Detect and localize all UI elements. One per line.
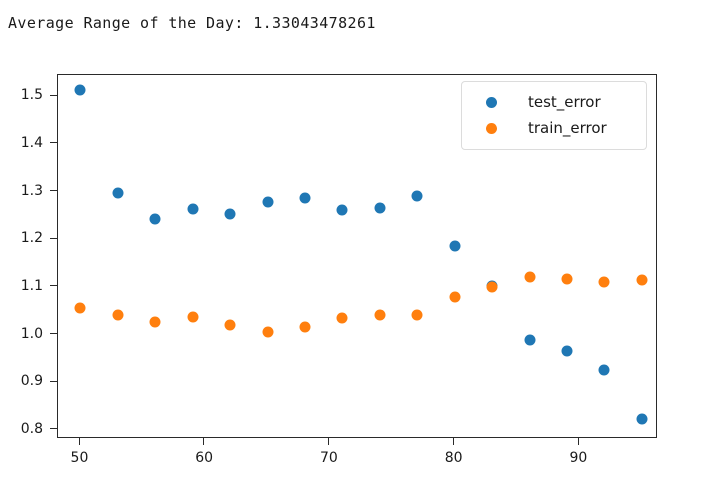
- y-axis-tick-label: 1.4: [21, 135, 43, 151]
- x-axis-tick-label: 60: [195, 450, 213, 466]
- x-axis-tick: [79, 438, 80, 445]
- y-axis-tick-labels: 1.51.41.31.21.11.00.90.8: [0, 0, 51, 496]
- data-point: [112, 188, 123, 199]
- chart-title: Average Range of the Day: 1.33043478261: [8, 14, 376, 32]
- data-point: [599, 365, 610, 376]
- y-axis-tick-label: 1.3: [21, 183, 43, 199]
- x-axis-tick: [453, 438, 454, 445]
- x-axis-tick: [328, 438, 329, 445]
- data-point: [636, 414, 647, 425]
- legend: test_error train_error: [461, 81, 647, 150]
- figure-canvas: Average Range of the Day: 1.33043478261 …: [0, 0, 720, 496]
- data-point: [374, 309, 385, 320]
- data-point: [262, 326, 273, 337]
- data-point: [75, 85, 86, 96]
- y-axis-tick-label: 0.8: [21, 421, 43, 437]
- data-point: [412, 309, 423, 320]
- y-axis-tick: [50, 333, 57, 334]
- data-point: [187, 203, 198, 214]
- data-point: [599, 277, 610, 288]
- y-axis-tick-label: 1.5: [21, 87, 43, 103]
- legend-item[interactable]: test_error: [472, 89, 636, 115]
- data-point: [112, 309, 123, 320]
- y-axis-tick: [50, 238, 57, 239]
- data-point: [299, 192, 310, 203]
- x-axis-tick-label: 70: [320, 450, 338, 466]
- data-point: [561, 345, 572, 356]
- data-point: [225, 209, 236, 220]
- data-point: [524, 335, 535, 346]
- data-point: [299, 322, 310, 333]
- y-axis-tick: [50, 190, 57, 191]
- data-point: [150, 214, 161, 225]
- data-point: [636, 275, 647, 286]
- data-point: [561, 273, 572, 284]
- x-axis-tick: [203, 438, 204, 445]
- x-axis-tick-label: 90: [569, 450, 587, 466]
- y-axis-tick: [50, 95, 57, 96]
- data-point: [75, 302, 86, 313]
- data-point: [524, 272, 535, 283]
- x-axis-tick: [578, 438, 579, 445]
- data-point: [337, 205, 348, 216]
- data-point: [150, 316, 161, 327]
- legend-marker-test-error: [486, 97, 497, 108]
- legend-marker-train-error: [486, 123, 497, 134]
- y-axis-tick-label: 1.0: [21, 326, 43, 342]
- data-point: [374, 203, 385, 214]
- data-point: [187, 311, 198, 322]
- y-axis-tick: [50, 381, 57, 382]
- legend-item[interactable]: train_error: [472, 115, 636, 141]
- y-axis-tick-label: 1.2: [21, 230, 43, 246]
- data-point: [337, 312, 348, 323]
- legend-label-train-error: train_error: [528, 119, 607, 137]
- y-axis-tick-label: 1.1: [21, 278, 43, 294]
- y-axis-tick: [50, 428, 57, 429]
- data-point: [487, 282, 498, 293]
- data-point: [412, 191, 423, 202]
- x-axis-tick-label: 80: [445, 450, 463, 466]
- legend-label-test-error: test_error: [528, 93, 601, 111]
- data-point: [225, 319, 236, 330]
- data-point: [262, 196, 273, 207]
- y-axis-tick: [50, 142, 57, 143]
- x-axis-tick-label: 50: [71, 450, 89, 466]
- y-axis-tick-label: 0.9: [21, 373, 43, 389]
- data-point: [449, 241, 460, 252]
- data-point: [449, 292, 460, 303]
- y-axis-tick: [50, 285, 57, 286]
